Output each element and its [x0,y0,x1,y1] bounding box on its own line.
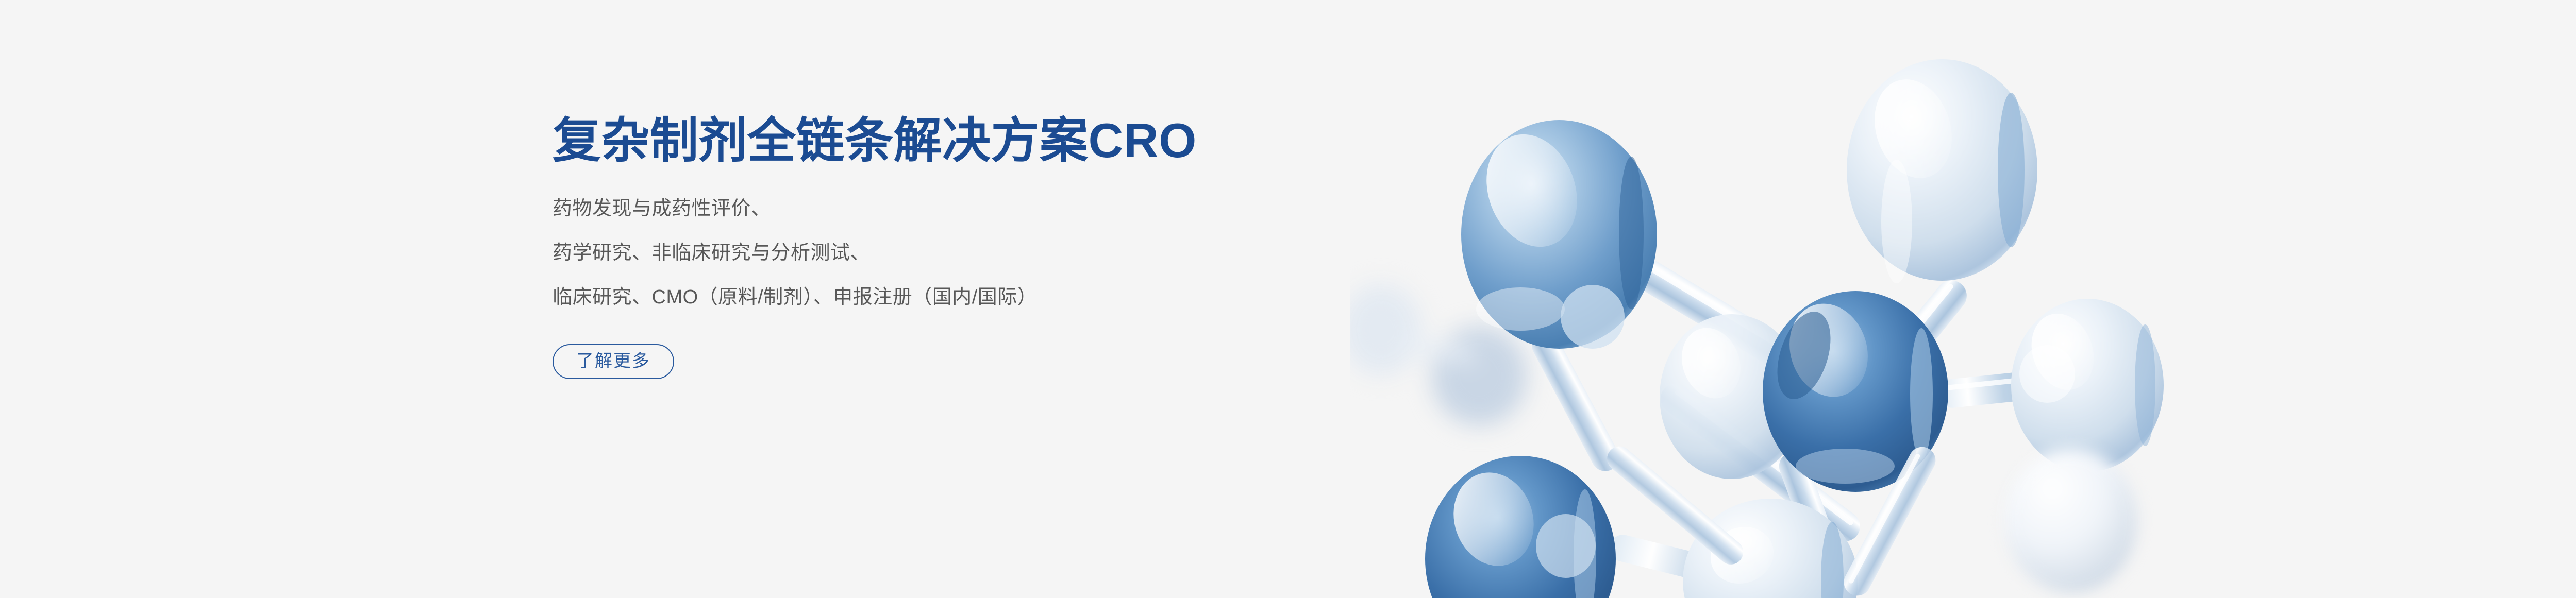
molecule-sphere-right-pale [2011,299,2164,472]
molecule-sphere-top-right [1847,59,2037,283]
molecule-sphere-frosted-lower-right [2005,448,2137,592]
hero-subtitle-line-1: 药物发现与成药性评价、 [553,199,1429,218]
glass-molecule-illustration [1350,0,2227,598]
molecule-sphere-bottom-left [1425,456,1616,598]
molecule-svg [1350,0,2227,598]
learn-more-button[interactable]: 了解更多 [553,344,674,379]
molecule-sphere-upper-left [1461,120,1657,349]
hero-subtitle-line-2: 药学研究、非临床研究与分析测试、 [553,243,1429,263]
hero-subtitle-line-3: 临床研究、CMO（原料/制剂）、申报注册（国内/国际） [553,287,1429,307]
hero-copy-block: 复杂制剂全链条解决方案CRO 药物发现与成药性评价、 药学研究、非临床研究与分析… [553,114,1429,379]
page-title: 复杂制剂全链条解决方案CRO [553,114,1429,167]
hero-subtitle-list: 药物发现与成药性评价、 药学研究、非临床研究与分析测试、 临床研究、CMO（原料… [553,199,1429,307]
hero-banner: 复杂制剂全链条解决方案CRO 药物发现与成药性评价、 药学研究、非临床研究与分析… [0,0,2576,598]
